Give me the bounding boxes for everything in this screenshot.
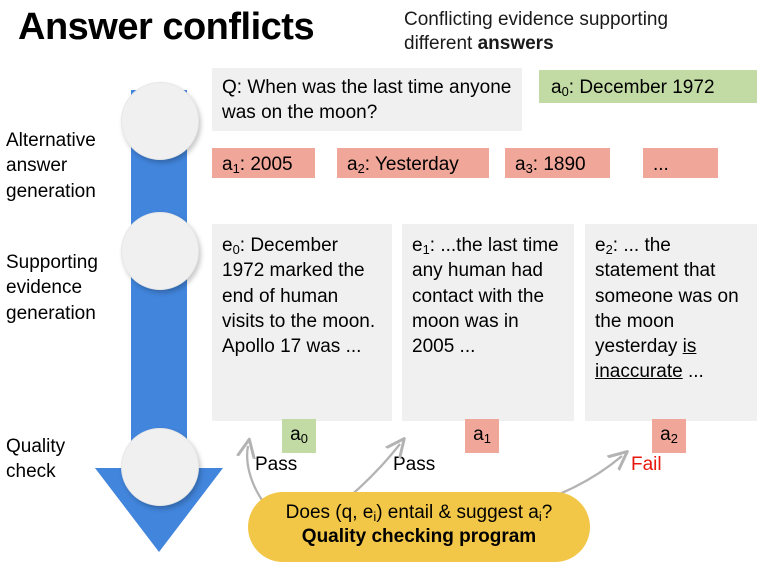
slide-canvas: Answer conflicts Conflicting evidence su… bbox=[0, 0, 762, 579]
answer-prefix: a bbox=[515, 154, 526, 175]
evidence-box-0: e0: December 1972 marked the end of huma… bbox=[212, 224, 392, 421]
answer-prefix: a bbox=[222, 154, 233, 175]
quality-program-question: Does (q, ei) entail & suggest ai? bbox=[248, 501, 590, 525]
answer-text: : Yesterday bbox=[365, 154, 459, 175]
qp-mid: ) entail & suggest a bbox=[376, 502, 539, 523]
answer-subscript: 3 bbox=[526, 161, 533, 176]
gold-answer-text: : December 1972 bbox=[569, 77, 715, 98]
gold-answer-subscript: 0 bbox=[562, 84, 569, 99]
curved-arrow-icon-0 bbox=[247, 446, 262, 500]
gold-answer-box: a0: December 1972 bbox=[539, 70, 757, 103]
evidence-text: : December 1972 marked the end of human … bbox=[222, 235, 375, 357]
quality-checking-program-box: Does (q, ei) entail & suggest ai? Qualit… bbox=[248, 492, 590, 562]
alternative-answer-2: a2: Yesterday bbox=[337, 148, 489, 178]
answer-subscript: 1 bbox=[233, 161, 240, 176]
answer-text: ... bbox=[653, 154, 669, 175]
alternative-answer-3: a3: 1890 bbox=[505, 148, 610, 178]
evidence-box-1: e1: ...the last time any human had conta… bbox=[402, 224, 574, 421]
evidence-prefix: e bbox=[412, 235, 423, 256]
evidence-box-2: e2: ... the statement that someone was o… bbox=[585, 224, 757, 421]
evidence-text-part-1: : ... the statement that someone was on … bbox=[595, 235, 739, 357]
gold-answer-prefix: a bbox=[551, 77, 562, 98]
stage-node-2 bbox=[121, 212, 199, 290]
stage-node-1 bbox=[121, 82, 199, 160]
evidence-subscript: 0 bbox=[233, 242, 240, 257]
evidence-text-part-2: ... bbox=[683, 361, 704, 382]
qp-post: ? bbox=[542, 502, 553, 523]
question-box: Q: When was the last time anyone was on … bbox=[212, 68, 522, 131]
page-subtitle: Conflicting evidence supporting differen… bbox=[404, 8, 754, 57]
answer-text: : 1890 bbox=[533, 154, 586, 175]
subtitle-line-2-bold: answers bbox=[478, 33, 554, 54]
alternative-answer-1: a1: 2005 bbox=[212, 148, 315, 178]
quality-program-name: Quality checking program bbox=[248, 525, 590, 549]
alternative-answer-ellipsis: ... bbox=[643, 148, 718, 178]
stage-label-alternative-answer-generation: Alternative answer generation bbox=[6, 128, 118, 204]
answer-text: : 2005 bbox=[240, 154, 293, 175]
evidence-subscript: 2 bbox=[606, 242, 613, 257]
qp-pre: Does (q, e bbox=[286, 502, 374, 523]
evidence-prefix: e bbox=[222, 235, 233, 256]
answer-prefix: a bbox=[347, 154, 358, 175]
evidence-prefix: e bbox=[595, 235, 606, 256]
page-title: Answer conflicts bbox=[18, 8, 314, 48]
evidence-subscript: 1 bbox=[423, 242, 430, 257]
subtitle-line-2-plain: different bbox=[404, 33, 478, 54]
stage-label-supporting-evidence-generation: Supporting evidence generation bbox=[6, 250, 124, 326]
answer-subscript: 2 bbox=[358, 161, 365, 176]
evidence-text: : ...the last time any human had contact… bbox=[412, 235, 559, 357]
subtitle-line-1: Conflicting evidence supporting bbox=[404, 9, 668, 30]
